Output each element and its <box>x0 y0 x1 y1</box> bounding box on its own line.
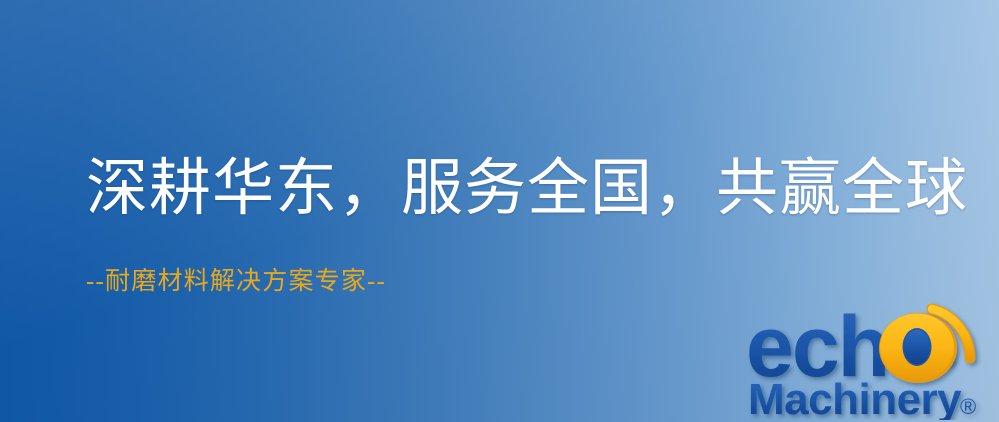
logo-wordmark-machinery: Machinery ® <box>748 375 976 420</box>
hero-banner: 深耕华东，服务全国，共赢全球 --耐磨材料解决方案专家-- <box>0 0 999 422</box>
svg-text:®: ® <box>960 394 976 419</box>
logo-letter-o <box>879 313 957 383</box>
banner-headline: 深耕华东，服务全国，共赢全球 <box>86 157 968 222</box>
svg-text:Machinery: Machinery <box>748 375 962 420</box>
echo-machinery-logo[interactable]: ech Machinery ® <box>742 296 994 420</box>
banner-subtitle: --耐磨材料解决方案专家-- <box>86 267 386 297</box>
